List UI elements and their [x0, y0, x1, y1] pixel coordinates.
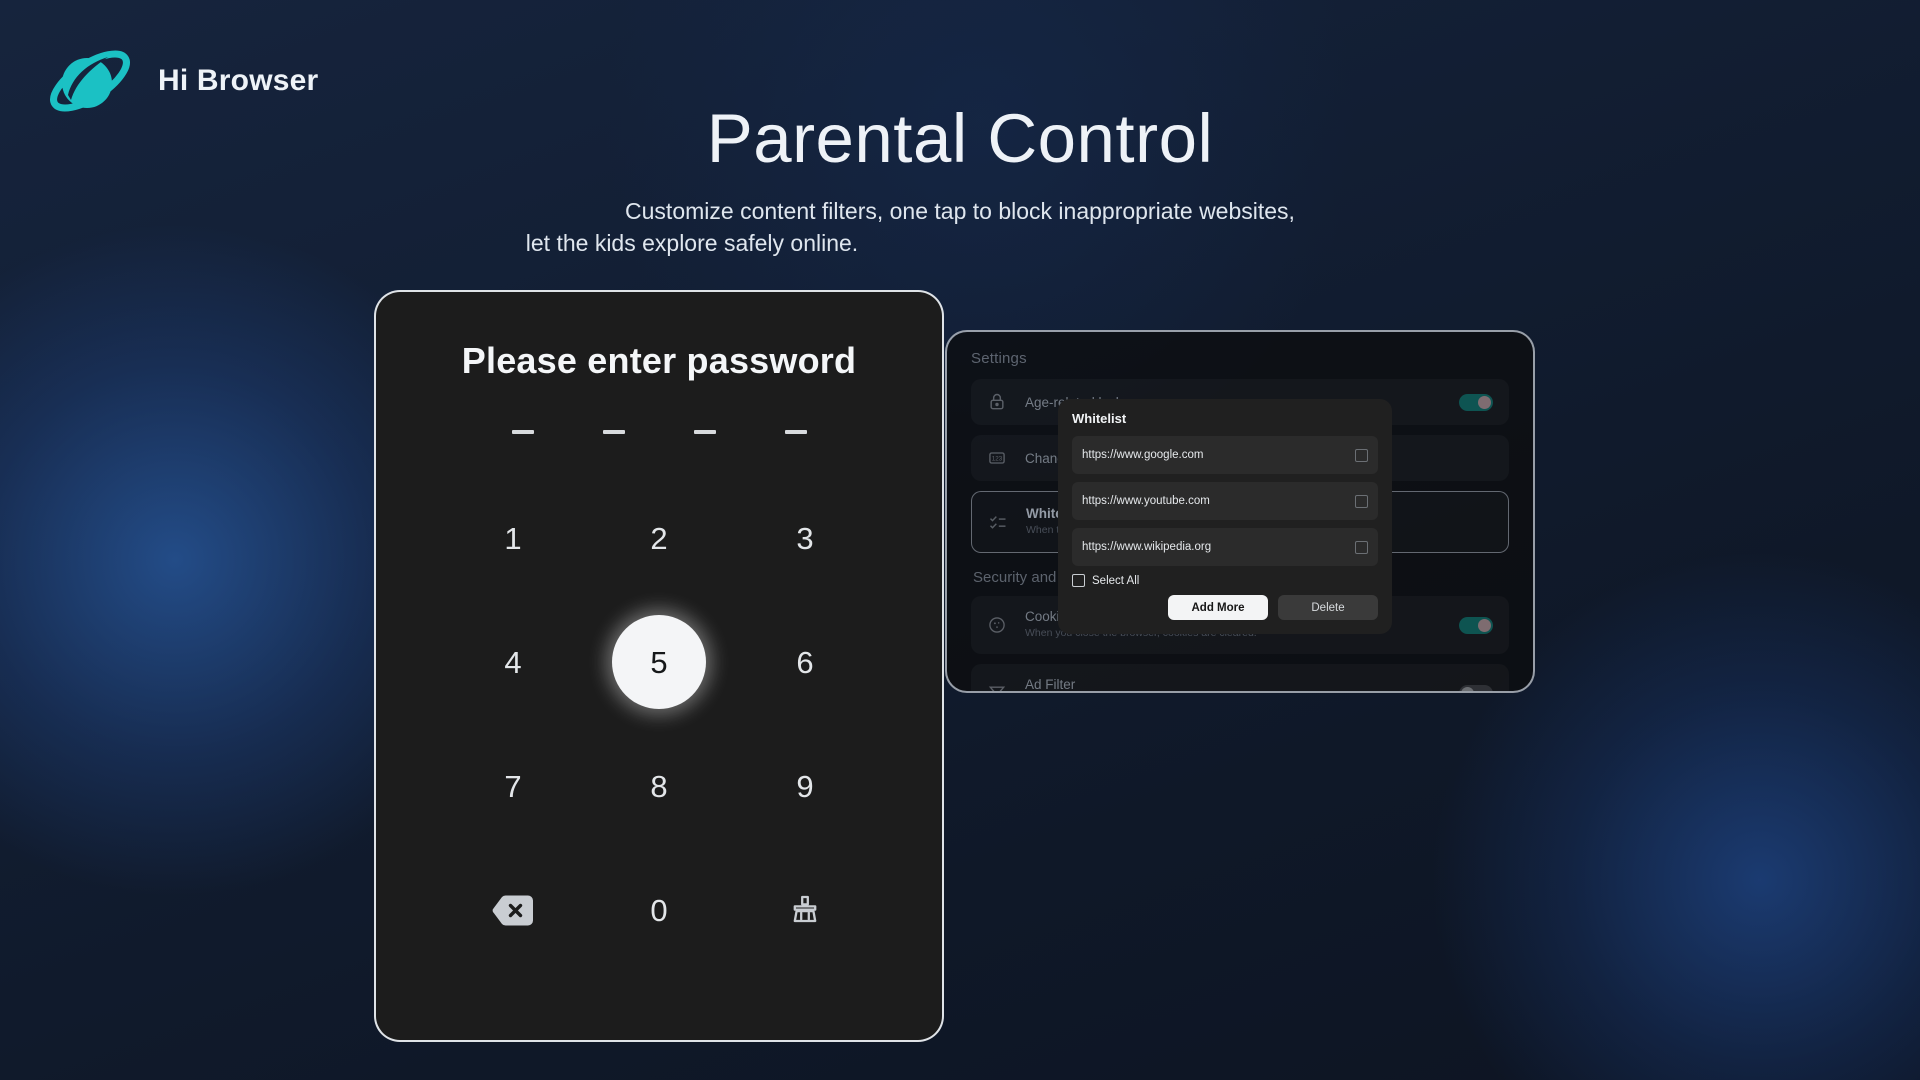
numeric-keypad: 1 2 3 4 5 6 7 8 9 0 [376, 476, 942, 972]
svg-text:123: 123 [992, 456, 1003, 463]
key-label: 4 [504, 647, 521, 678]
whitelist-dialog-footer: Select All Add More Delete [1072, 574, 1378, 620]
whitelist-item[interactable]: https://www.youtube.com [1072, 482, 1378, 520]
whitelist-item-url: https://www.youtube.com [1082, 495, 1210, 507]
funnel-icon [987, 683, 1007, 693]
pin-indicator [376, 430, 942, 434]
toggle-knob [1461, 687, 1474, 694]
subtitle-line-2: let the kids explore safely online. [0, 227, 1384, 260]
page-title: Parental Control [0, 100, 1920, 179]
password-dialog-title: Please enter password [376, 340, 942, 382]
lock-icon [987, 392, 1007, 412]
whitelist-dialog-buttons: Add More Delete [1072, 595, 1378, 620]
select-all-control[interactable]: Select All [1072, 574, 1378, 587]
whitelist-dialog: Whitelist https://www.google.com https:/… [1058, 399, 1392, 634]
numeric-keypad-icon: 123 [987, 448, 1007, 468]
page-subtitle: Customize content filters, one tap to bl… [0, 195, 1920, 260]
delete-button[interactable]: Delete [1278, 595, 1378, 620]
cookie-icon [987, 615, 1007, 635]
whitelist-item-url: https://www.google.com [1082, 449, 1203, 461]
key-0[interactable]: 0 [586, 848, 732, 972]
key-label: 9 [796, 771, 813, 802]
key-label: 6 [796, 647, 813, 678]
key-1[interactable]: 1 [440, 476, 586, 600]
whitelist-dialog-title: Whitelist [1072, 411, 1378, 426]
key-5[interactable]: 5 [586, 600, 732, 724]
hero-block: Parental Control Customize content filte… [0, 100, 1920, 260]
toggle-cookies[interactable] [1459, 617, 1493, 634]
pin-slot [603, 430, 625, 434]
key-label: 0 [650, 895, 667, 926]
whitelist-item-url: https://www.wikipedia.org [1082, 541, 1211, 553]
checklist-icon [988, 512, 1008, 532]
backspace-icon [492, 894, 534, 927]
brand-name: Hi Browser [158, 64, 318, 98]
page-root: Hi Browser Parental Control Customize co… [0, 0, 1920, 1080]
toggle-ad-filter[interactable] [1459, 685, 1493, 694]
toggle-knob [1478, 396, 1491, 409]
whitelist-item-checkbox[interactable] [1355, 541, 1368, 554]
whitelist-item[interactable]: https://www.wikipedia.org [1072, 528, 1378, 566]
add-more-button[interactable]: Add More [1168, 595, 1268, 620]
key-label: 5 [650, 647, 667, 678]
whitelist-item-checkbox[interactable] [1355, 495, 1368, 508]
key-2[interactable]: 2 [586, 476, 732, 600]
key-label: 1 [504, 523, 521, 554]
subtitle-line-1: Customize content filters, one tap to bl… [625, 198, 1295, 224]
key-4[interactable]: 4 [440, 600, 586, 724]
broom-icon [788, 893, 822, 927]
select-all-checkbox[interactable] [1072, 574, 1085, 587]
key-8[interactable]: 8 [586, 724, 732, 848]
toggle-age-lock[interactable] [1459, 394, 1493, 411]
key-backspace[interactable] [440, 848, 586, 972]
toggle-knob [1478, 619, 1491, 632]
whitelist-item[interactable]: https://www.google.com [1072, 436, 1378, 474]
key-3[interactable]: 3 [732, 476, 878, 600]
key-label: 8 [650, 771, 667, 802]
key-9[interactable]: 9 [732, 724, 878, 848]
settings-panel-title: Settings [971, 350, 1509, 367]
select-all-label: Select All [1092, 575, 1139, 587]
key-6[interactable]: 6 [732, 600, 878, 724]
pin-slot [694, 430, 716, 434]
pin-slot [512, 430, 534, 434]
key-label: 3 [796, 523, 813, 554]
key-7[interactable]: 7 [440, 724, 586, 848]
settings-row-ad-filter[interactable]: Ad Filter Turn on Ad Filter to block ads… [971, 664, 1509, 693]
pin-slot [785, 430, 807, 434]
whitelist-item-checkbox[interactable] [1355, 449, 1368, 462]
key-clear[interactable] [732, 848, 878, 972]
key-label: 2 [650, 523, 667, 554]
key-label: 7 [504, 771, 521, 802]
password-dialog: Please enter password 1 2 3 4 5 6 7 8 9 [374, 290, 944, 1042]
settings-row-label: Ad Filter [1025, 677, 1441, 692]
